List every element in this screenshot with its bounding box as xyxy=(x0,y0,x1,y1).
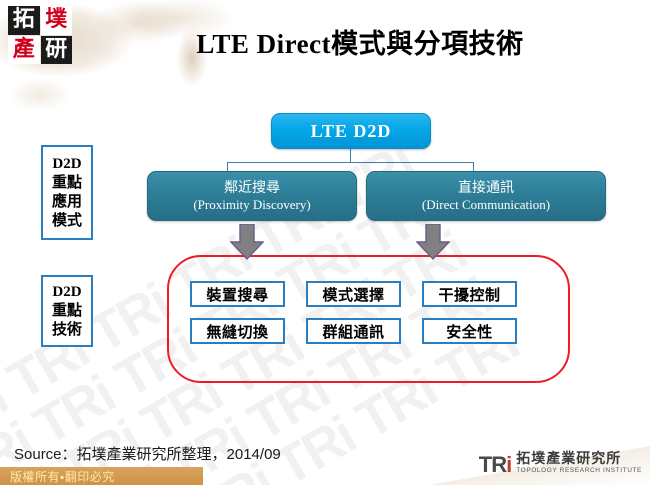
seal-char-3: 產 xyxy=(8,36,40,65)
connector-vertical-root xyxy=(350,149,351,163)
company-seal-logo: 拓 墣 產 研 xyxy=(8,6,72,64)
arrow-down-icon xyxy=(416,224,450,260)
side-label-application-modes: D2D 重點 應用 模式 xyxy=(41,145,93,240)
node-lte-d2d: LTE D2D xyxy=(271,113,431,149)
side-label-key-technologies: D2D 重點 技術 xyxy=(41,275,93,347)
tri-wordmark: TRi xyxy=(479,455,511,475)
side-label-line: 應用 xyxy=(52,193,82,212)
tech-box: 無縫切換 xyxy=(190,318,285,344)
node-label-en: (Proximity Discovery) xyxy=(193,197,310,213)
node-label-cn: 直接通訊 xyxy=(458,180,514,197)
slide-canvas: TRi TRi TRi TRi TRi TRi TRi TRi TRi TRi … xyxy=(0,0,650,485)
side-label-line: 重點 xyxy=(52,302,82,321)
node-label-en: (Direct Communication) xyxy=(422,197,550,213)
arrow-down-icon xyxy=(230,224,264,260)
copyright-text: 版權所有▪翻印必究 xyxy=(0,468,115,485)
side-label-line: 重點 xyxy=(52,174,82,193)
tech-box: 群組通訊 xyxy=(306,318,401,344)
tech-box: 安全性 xyxy=(422,318,517,344)
connector-horizontal-branch xyxy=(227,162,474,163)
node-direct-communication: 直接通訊 (Direct Communication) xyxy=(366,171,606,221)
page-title: LTE Direct模式與分項技術 xyxy=(120,22,600,61)
tri-logo-cn: 拓墣產業研究所 xyxy=(516,452,642,466)
side-label-line: D2D xyxy=(52,283,81,302)
tri-watermark: TRi TRi TRi TRi TRi TRi TRi TRi TRi TRi … xyxy=(0,0,650,485)
watermark-row: TRi TRi TRi TRi TRi TRi xyxy=(0,0,650,455)
tri-footer-logo: TRi 拓墣產業研究所 TOPOLOGY RESEARCH INSTITUTE xyxy=(479,452,642,475)
side-label-line: 技術 xyxy=(52,321,82,340)
tech-box: 裝置搜尋 xyxy=(190,281,285,307)
tri-logo-en: TOPOLOGY RESEARCH INSTITUTE xyxy=(516,468,642,475)
copyright-bar: 版權所有▪翻印必究 xyxy=(0,467,203,485)
side-label-line: 模式 xyxy=(52,212,82,231)
tech-box: 干擾控制 xyxy=(422,281,517,307)
seal-char-1: 拓 xyxy=(8,6,40,35)
source-note: Source：拓墣產業研究所整理，2014/09 xyxy=(14,443,281,464)
node-label-cn: 鄰近搜尋 xyxy=(224,180,280,197)
tech-box-grid: 裝置搜尋 模式選擇 干擾控制 無縫切換 群組通訊 安全性 xyxy=(190,281,550,344)
seal-char-2: 墣 xyxy=(41,6,73,35)
seal-char-4: 研 xyxy=(41,36,73,65)
tech-box: 模式選擇 xyxy=(306,281,401,307)
side-label-line: D2D xyxy=(52,155,81,174)
node-proximity-discovery: 鄰近搜尋 (Proximity Discovery) xyxy=(147,171,357,221)
